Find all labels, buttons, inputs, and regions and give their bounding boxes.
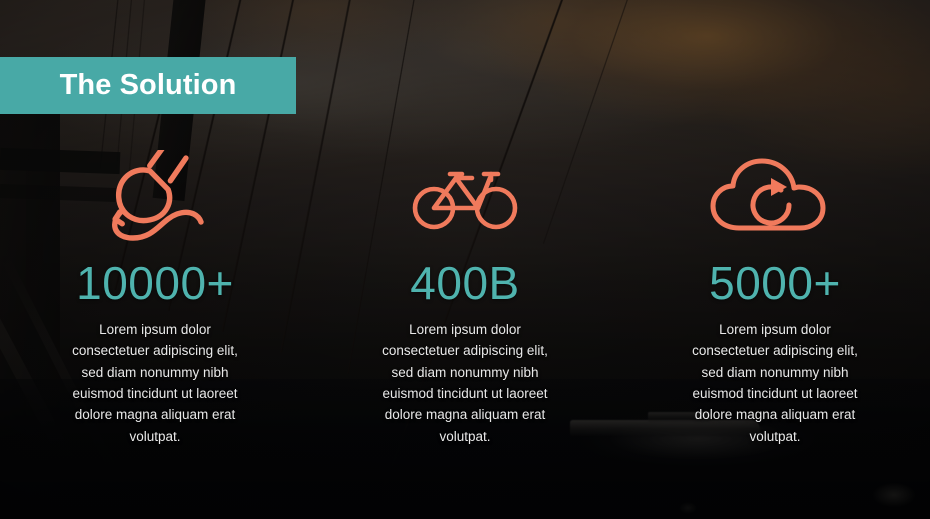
stat-column-plug: 10000+ Lorem ipsum dolor consectetuer ad… xyxy=(0,150,310,447)
title-banner: The Solution xyxy=(0,57,296,114)
stat-number: 10000+ xyxy=(76,260,234,306)
stat-column-cloud: 5000+ Lorem ipsum dolor consectetuer adi… xyxy=(620,150,930,447)
cloud-sync-icon xyxy=(709,150,841,242)
stats-columns: 10000+ Lorem ipsum dolor consectetuer ad… xyxy=(0,150,930,447)
page-title: The Solution xyxy=(60,71,237,100)
presentation-slide: The Solution 10000+ Lorem ipsum dolo xyxy=(0,0,930,519)
power-plug-icon xyxy=(103,150,207,242)
stat-description: Lorem ipsum dolor consectetuer adipiscin… xyxy=(373,319,558,447)
stat-description: Lorem ipsum dolor consectetuer adipiscin… xyxy=(63,319,248,447)
stat-description: Lorem ipsum dolor consectetuer adipiscin… xyxy=(683,319,868,447)
stat-column-bicycle: 400B Lorem ipsum dolor consectetuer adip… xyxy=(310,150,620,447)
stat-number: 400B xyxy=(410,260,519,306)
bicycle-icon xyxy=(412,150,518,242)
stat-number: 5000+ xyxy=(709,260,841,306)
